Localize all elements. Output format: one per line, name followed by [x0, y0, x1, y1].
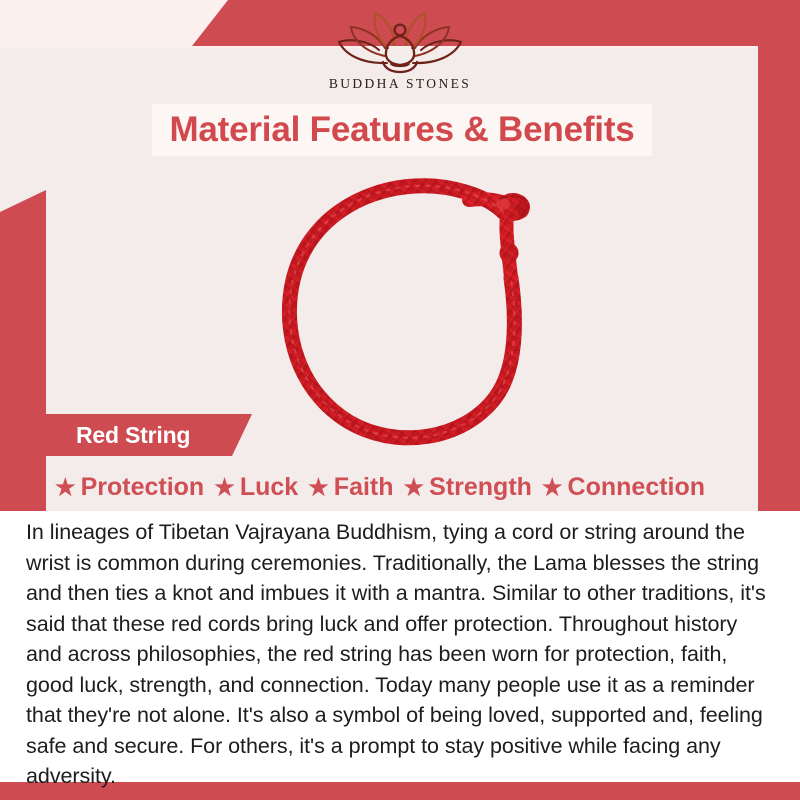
- star-icon: ★: [542, 476, 563, 499]
- benefit-item-protection: ★ Protection: [50, 473, 209, 502]
- page-title-plate: Material Features & Benefits: [152, 104, 652, 156]
- brand-logo: BUDDHA STONES: [0, 8, 800, 104]
- product-name-ribbon: Red String: [46, 414, 252, 456]
- product-feature-poster: BUDDHA STONES Material Features & Benefi…: [0, 0, 800, 800]
- star-icon: ★: [404, 476, 425, 499]
- benefits-row: ★ Protection ★ Luck ★ Faith ★ Strength ★…: [0, 466, 760, 508]
- benefit-label: Strength: [429, 473, 532, 502]
- benefit-label: Faith: [334, 473, 394, 502]
- benefit-item-connection: ★ Connection: [537, 473, 710, 502]
- brand-name: BUDDHA STONES: [329, 76, 471, 92]
- benefit-label: Protection: [81, 473, 205, 502]
- benefit-item-luck: ★ Luck: [209, 473, 303, 502]
- page-title: Material Features & Benefits: [169, 110, 634, 150]
- star-icon: ★: [214, 476, 235, 499]
- star-icon: ★: [308, 476, 329, 499]
- star-icon: ★: [55, 476, 76, 499]
- description-panel: In lineages of Tibetan Vajrayana Buddhis…: [0, 511, 800, 782]
- benefit-item-strength: ★ Strength: [399, 473, 537, 502]
- product-name-label: Red String: [46, 422, 190, 449]
- benefit-item-faith: ★ Faith: [303, 473, 398, 502]
- lotus-meditation-icon: [325, 8, 475, 74]
- benefit-label: Connection: [568, 473, 706, 502]
- benefit-label: Luck: [240, 473, 298, 502]
- description-text: In lineages of Tibetan Vajrayana Buddhis…: [0, 511, 800, 792]
- red-braided-string-bracelet-photo: [255, 160, 585, 460]
